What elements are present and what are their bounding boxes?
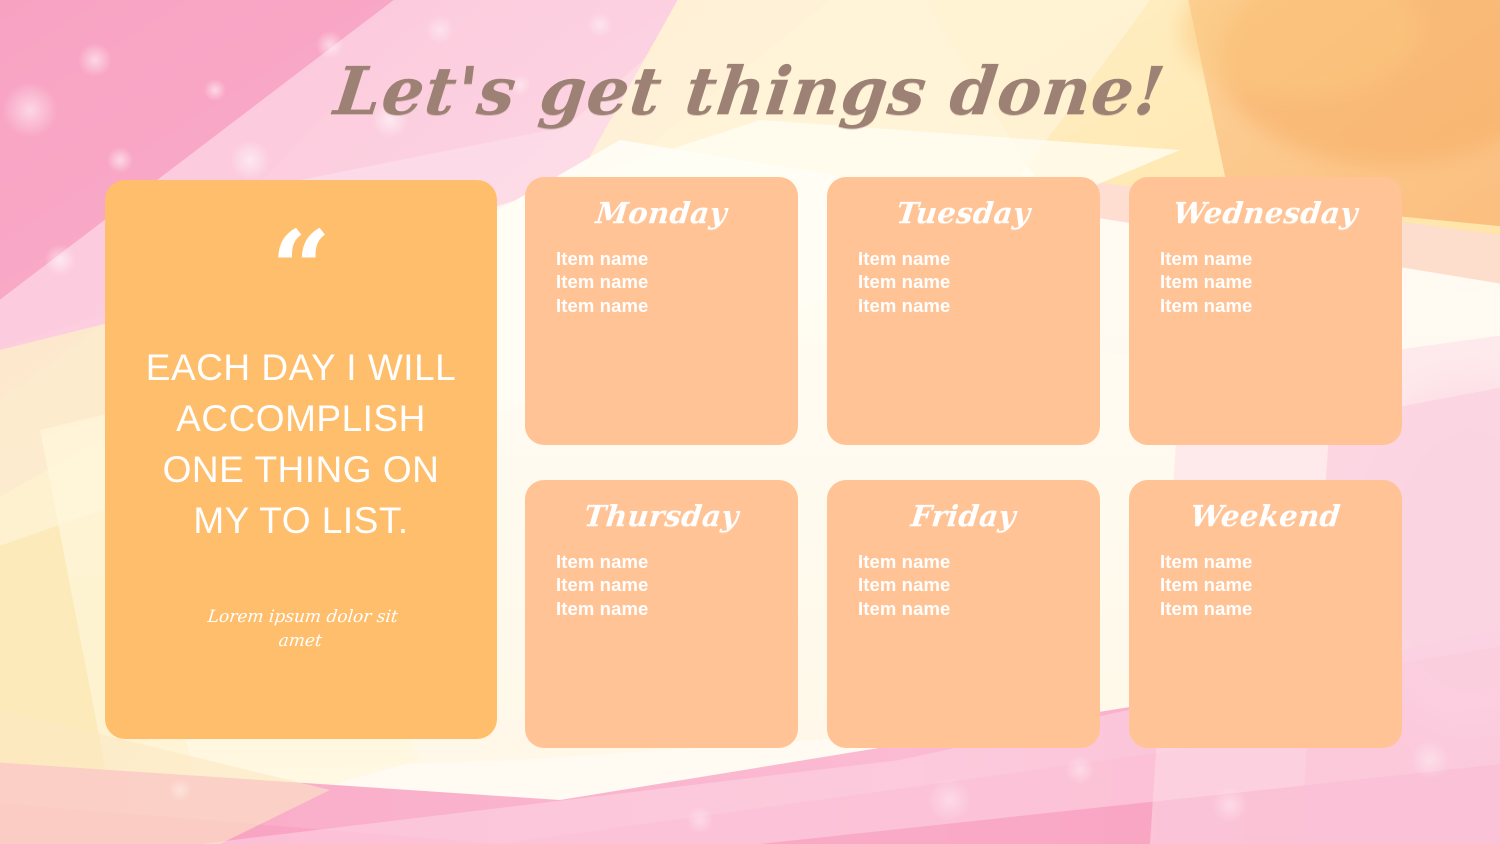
quote-subtitle: Lorem ipsum dolor sit amet xyxy=(191,605,411,653)
day-card-friday[interactable]: Friday Item name Item name Item name xyxy=(827,480,1100,748)
day-item-list: Item name Item name Item name xyxy=(525,550,798,620)
day-item-list: Item name Item name Item name xyxy=(1129,247,1402,317)
list-item[interactable]: Item name xyxy=(556,573,798,596)
day-item-list: Item name Item name Item name xyxy=(525,247,798,317)
list-item[interactable]: Item name xyxy=(858,550,1100,573)
list-item[interactable]: Item name xyxy=(858,597,1100,620)
day-item-list: Item name Item name Item name xyxy=(827,247,1100,317)
list-item[interactable]: Item name xyxy=(1160,247,1402,270)
day-title: Thursday xyxy=(523,499,800,533)
list-item[interactable]: Item name xyxy=(556,550,798,573)
day-card-weekend[interactable]: Weekend Item name Item name Item name xyxy=(1129,480,1402,748)
list-item[interactable]: Item name xyxy=(1160,573,1402,596)
day-title: Wednesday xyxy=(1127,196,1404,230)
list-item[interactable]: Item name xyxy=(858,270,1100,293)
quote-card: “ EACH DAY I WILL ACCOMPLISH ONE THING O… xyxy=(105,180,497,739)
day-card-monday[interactable]: Monday Item name Item name Item name xyxy=(525,177,798,445)
day-card-thursday[interactable]: Thursday Item name Item name Item name xyxy=(525,480,798,748)
list-item[interactable]: Item name xyxy=(1160,294,1402,317)
list-item[interactable]: Item name xyxy=(556,247,798,270)
day-item-list: Item name Item name Item name xyxy=(1129,550,1402,620)
day-card-grid: Monday Item name Item name Item name Tue… xyxy=(525,177,1405,747)
day-card-wednesday[interactable]: Wednesday Item name Item name Item name xyxy=(1129,177,1402,445)
list-item[interactable]: Item name xyxy=(1160,597,1402,620)
list-item[interactable]: Item name xyxy=(556,294,798,317)
list-item[interactable]: Item name xyxy=(858,247,1100,270)
double-quote-icon: “ xyxy=(271,242,331,308)
list-item[interactable]: Item name xyxy=(1160,270,1402,293)
slide-stage: Let's get things done! “ EACH DAY I WILL… xyxy=(0,0,1500,844)
day-title: Friday xyxy=(825,499,1102,533)
list-item[interactable]: Item name xyxy=(858,294,1100,317)
day-title: Monday xyxy=(523,196,800,230)
day-title: Tuesday xyxy=(825,196,1102,230)
list-item[interactable]: Item name xyxy=(1160,550,1402,573)
page-title: Let's get things done! xyxy=(0,52,1500,130)
day-item-list: Item name Item name Item name xyxy=(827,550,1100,620)
list-item[interactable]: Item name xyxy=(556,597,798,620)
day-title: Weekend xyxy=(1127,499,1404,533)
list-item[interactable]: Item name xyxy=(858,573,1100,596)
day-card-tuesday[interactable]: Tuesday Item name Item name Item name xyxy=(827,177,1100,445)
list-item[interactable]: Item name xyxy=(556,270,798,293)
quote-text: EACH DAY I WILL ACCOMPLISH ONE THING ON … xyxy=(131,342,471,546)
